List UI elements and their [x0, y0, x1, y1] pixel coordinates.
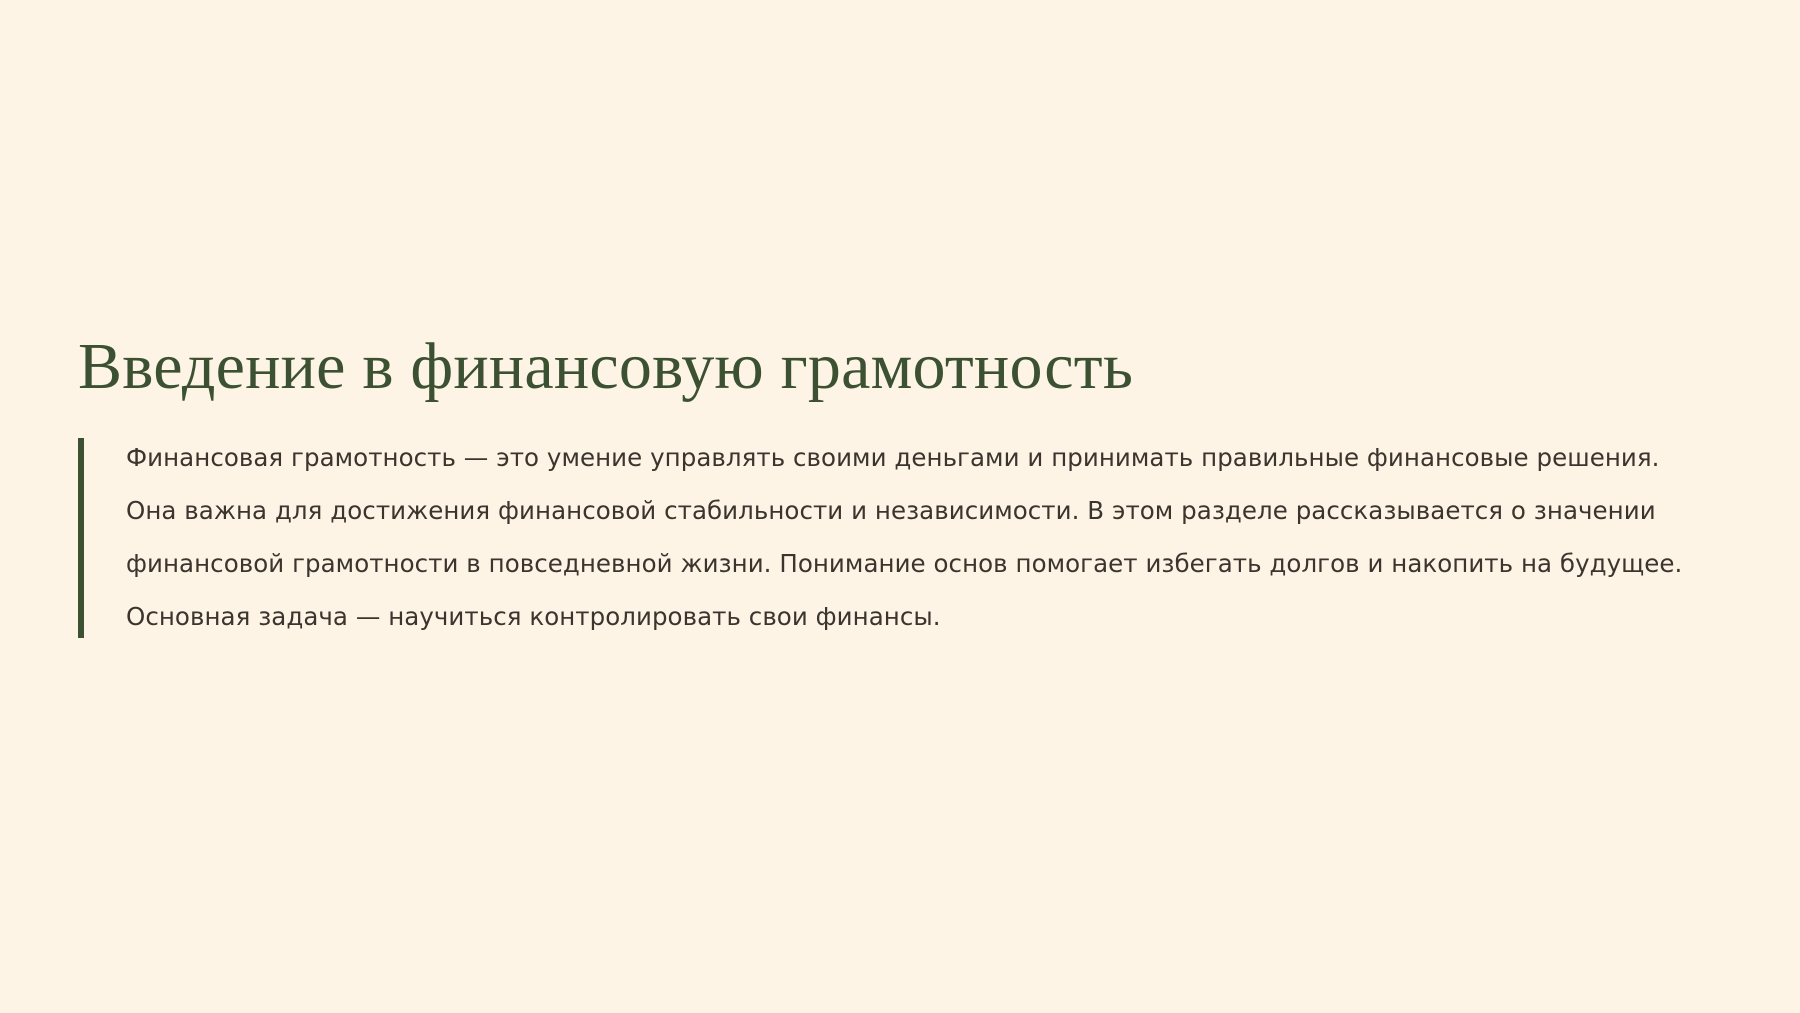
- intro-callout: Финансовая грамотность — это умение упра…: [78, 432, 1718, 644]
- page-title: Введение в финансовую грамотность: [78, 330, 1718, 404]
- article-content: Введение в финансовую грамотность Финанс…: [78, 330, 1718, 644]
- callout-accent-bar: [78, 438, 84, 638]
- callout-paragraph: Финансовая грамотность — это умение упра…: [126, 432, 1712, 644]
- page-root: Введение в финансовую грамотность Финанс…: [0, 0, 1800, 1013]
